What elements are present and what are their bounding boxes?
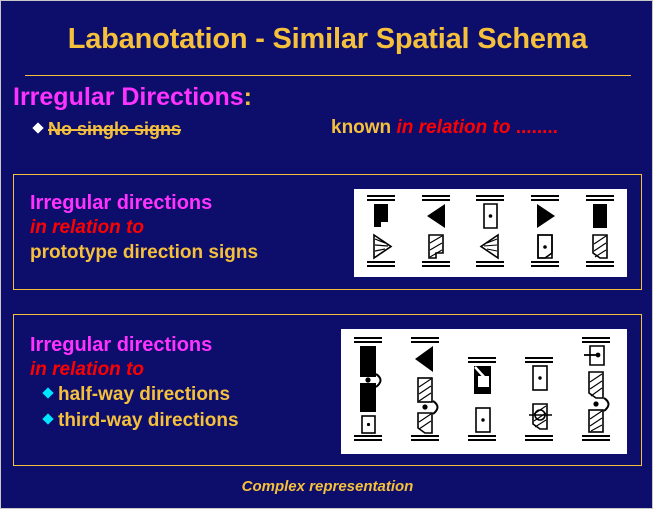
box1-line2: in relation to [30, 216, 258, 240]
known-relation-text: known in relation to ........ [331, 117, 558, 139]
box1-line3: prototype direction signs [30, 240, 258, 265]
box2-bullet-1: third-way directions [44, 408, 239, 434]
known-prefix: known [331, 117, 396, 138]
page-title: Labanotation - Similar Spatial Schema [1, 23, 653, 56]
box2-line1: Irregular directions [30, 333, 239, 358]
footer-caption: Complex representation [1, 478, 653, 495]
labanotation-glyph [462, 332, 506, 452]
box2-bullet-1-label: third-way directions [58, 410, 239, 431]
notation-panel-complex [341, 329, 627, 454]
glyph-row-complex [341, 329, 627, 454]
known-italic: in relation to [396, 117, 510, 138]
box2-text-block: Irregular directions in relation to half… [30, 333, 239, 434]
notation-panel-prototype [354, 189, 627, 277]
labanotation-glyph [470, 191, 510, 276]
labanotation-glyph [348, 332, 392, 452]
labanotation-glyph [576, 332, 620, 452]
subtitle-colon: : [244, 83, 252, 111]
known-dots: ........ [510, 117, 558, 138]
labanotation-glyph [405, 332, 449, 452]
box2-bullet-0: half-way directions [44, 382, 239, 408]
box2-line2: in relation to [30, 358, 239, 382]
labanotation-glyph [416, 191, 456, 276]
diamond-bullet-icon [42, 413, 53, 424]
content-box-complex: Irregular directions in relation to half… [13, 314, 642, 466]
title-divider [25, 75, 631, 76]
labanotation-glyph [580, 191, 620, 276]
content-box-prototype: Irregular directions in relation to prot… [13, 174, 642, 290]
diamond-bullet-icon [42, 387, 53, 398]
glyph-row-prototype [354, 189, 627, 277]
labanotation-glyph [519, 332, 563, 452]
diamond-bullet-icon [32, 122, 43, 133]
box2-bullet-0-label: half-way directions [58, 384, 230, 405]
labanotation-glyph [525, 191, 565, 276]
subtitle-text: Irregular Directions [13, 83, 244, 111]
slide-canvas: Labanotation - Similar Spatial Schema Ir… [0, 0, 653, 509]
box1-line1: Irregular directions [30, 191, 258, 216]
subtitle: Irregular Directions: [13, 83, 252, 112]
box1-text-block: Irregular directions in relation to prot… [30, 191, 258, 265]
labanotation-glyph [361, 191, 401, 276]
struck-text: No single signs [48, 119, 181, 139]
